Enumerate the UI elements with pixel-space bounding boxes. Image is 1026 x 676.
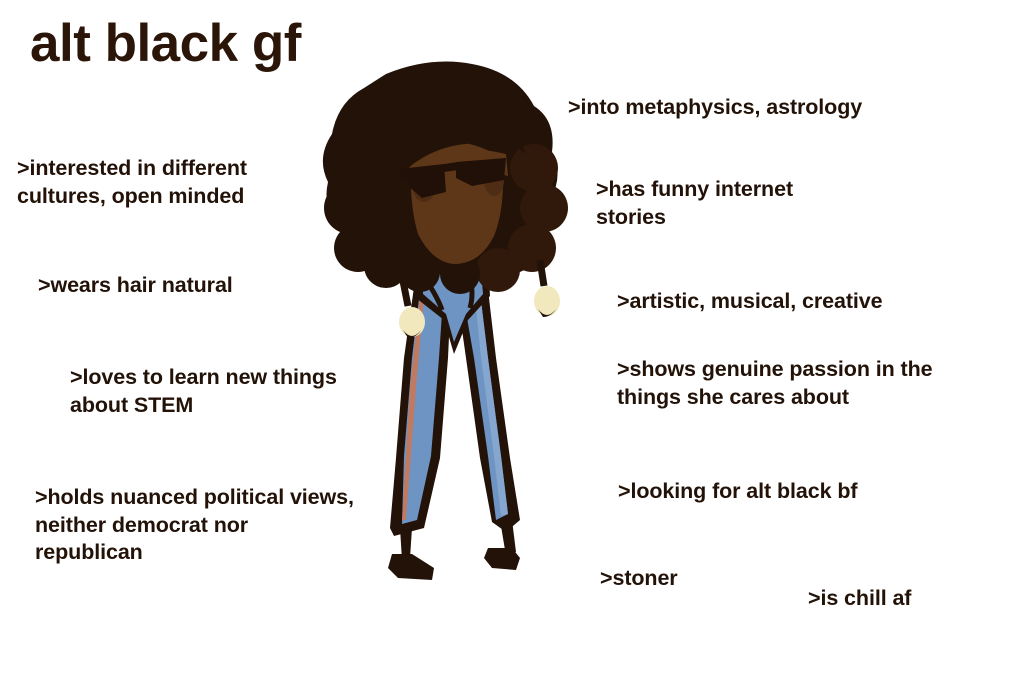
hair-tie-right-strand <box>540 260 544 286</box>
character-illustration <box>320 58 590 603</box>
meme-canvas: alt black gf >interested in different cu… <box>0 0 1026 676</box>
trait-interested-in-different-cultures: >interested in different cultures, open … <box>17 155 317 210</box>
foot-right <box>484 548 520 570</box>
bead-right <box>534 286 560 316</box>
trait-looking-for-alt-black-bf: >looking for alt black bf <box>618 478 948 506</box>
trait-shows-genuine-passion: >shows genuine passion in the things she… <box>617 356 962 411</box>
trait-wears-hair-natural: >wears hair natural <box>38 272 328 300</box>
trait-stoner: >stoner <box>600 565 760 593</box>
hair-curl-5 <box>510 144 558 192</box>
bead-left <box>399 307 425 337</box>
page-title: alt black gf <box>30 16 301 72</box>
foot-left <box>388 554 434 580</box>
trait-into-metaphysics-astrology: >into metaphysics, astrology <box>568 94 968 122</box>
trait-nuanced-political-views: >holds nuanced political views, neither … <box>35 484 355 567</box>
hair-curl-8 <box>476 248 520 292</box>
trait-artistic-musical-creative: >artistic, musical, creative <box>617 288 977 316</box>
sunglasses-temple <box>400 168 410 180</box>
trait-loves-to-learn-stem: >loves to learn new things about STEM <box>70 364 340 419</box>
hair-tie-right <box>534 260 560 317</box>
trait-funny-internet-stories: >has funny internet stories <box>596 176 866 231</box>
trait-is-chill-af: >is chill af <box>808 585 978 613</box>
